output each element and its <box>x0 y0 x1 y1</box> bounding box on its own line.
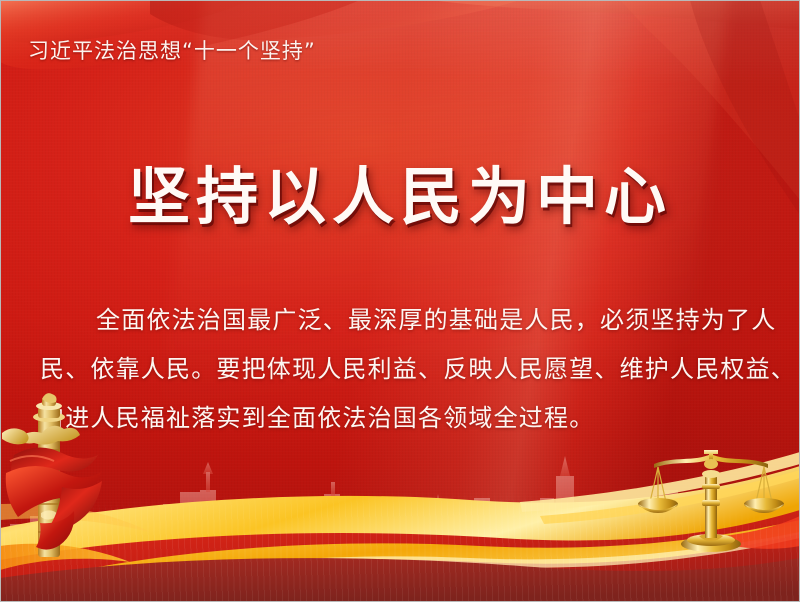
page-heading: 习近平法治思想“十一个坚持” <box>28 41 316 62</box>
body-line-2: 民、依靠人民。要把体现人民利益、反映人民愿望、维护人民权益、 <box>40 345 760 394</box>
scales-of-justice-icon <box>636 440 786 556</box>
body-line-3: 增进人民福祉落实到全面依法治国各领域全过程。 <box>40 394 760 443</box>
huabiao-column-icon <box>0 391 146 566</box>
body-line-1: 全面依法治国最广泛、最深厚的基础是人民，必须坚持为了人 <box>40 296 760 345</box>
page-title: 坚持以人民为中心 <box>0 160 800 233</box>
poster-canvas: 习近平法治思想“十一个坚持” 坚持以人民为中心 全面依法治国最广泛、最深厚的基础… <box>0 0 800 602</box>
body-paragraph: 全面依法治国最广泛、最深厚的基础是人民，必须坚持为了人 民、依靠人民。要把体现人… <box>40 296 760 443</box>
